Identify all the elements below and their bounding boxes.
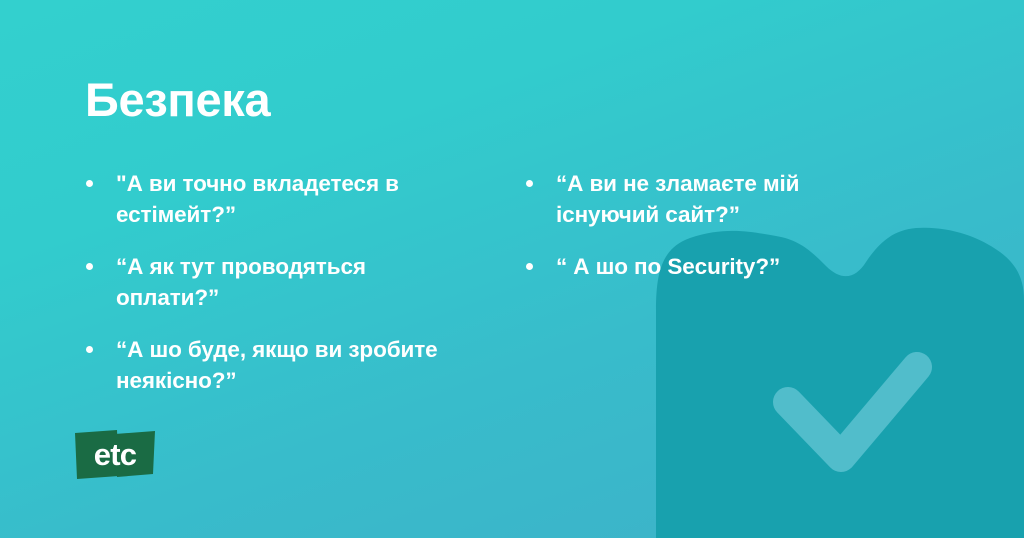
list-item: “А ви не зламаєте мій існуючий сайт?”: [522, 168, 894, 230]
list-item-label: “А ви не зламаєте мій існуючий сайт?”: [556, 171, 799, 227]
list-item: “А як тут проводяться оплати?”: [82, 251, 454, 313]
checkmark-icon: [788, 367, 917, 457]
bullet-dot-icon: [86, 263, 93, 270]
logo-text: etc: [73, 428, 157, 482]
list-item: “ А шо по Security?”: [522, 251, 894, 282]
etc-logo: etc: [73, 428, 157, 482]
list-item-label: “А шо буде, якщо ви зробите неякісно?”: [116, 337, 438, 393]
bullet-column-right: “А ви не зламаєте мій існуючий сайт?” “ …: [522, 168, 894, 282]
list-item-label: “А як тут проводяться оплати?”: [116, 254, 366, 310]
bullet-dot-icon: [526, 180, 533, 187]
list-item: "А ви точно вкладетеся в естімейт?”: [82, 168, 454, 230]
bullet-dot-icon: [86, 180, 93, 187]
page-title: Безпека: [85, 76, 270, 123]
slide-canvas: Безпека "А ви точно вкладетеся в естімей…: [0, 0, 1024, 538]
list-item: “А шо буде, якщо ви зробите неякісно?”: [82, 334, 454, 396]
bullet-dot-icon: [526, 263, 533, 270]
list-item-label: "А ви точно вкладетеся в естімейт?”: [116, 171, 399, 227]
bullet-dot-icon: [86, 346, 93, 353]
list-item-label: “ А шо по Security?”: [556, 254, 780, 279]
bullet-column-left: "А ви точно вкладетеся в естімейт?” “А я…: [82, 168, 454, 396]
